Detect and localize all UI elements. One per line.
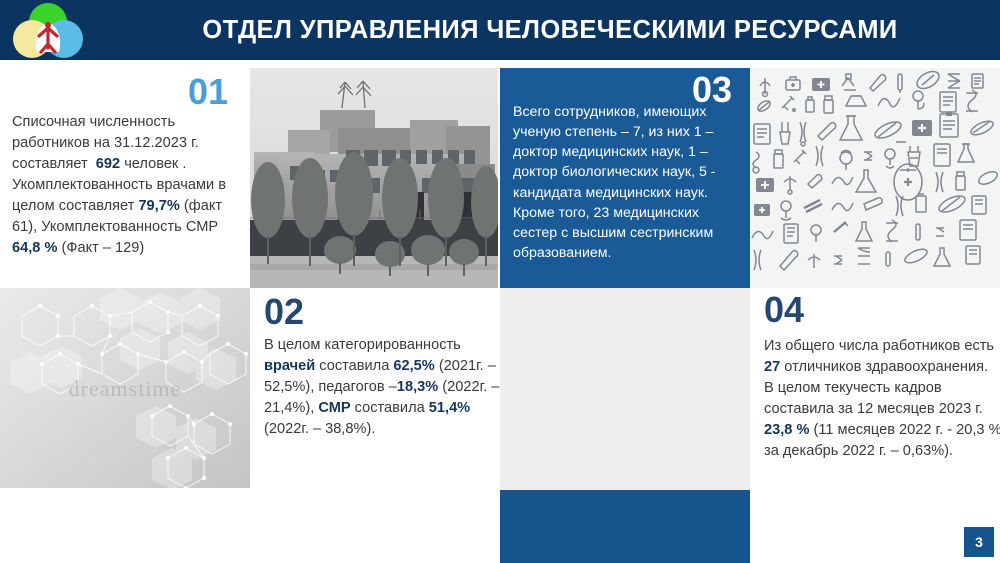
block-01-line: Списочная численность работников на 31.1… bbox=[12, 114, 226, 256]
block-04: 04 Из общего числа работников есть 27 от… bbox=[750, 288, 1000, 503]
block-01: 01 Списочная численность работников на 3… bbox=[0, 70, 250, 288]
grey-filler-column bbox=[500, 288, 750, 490]
block-03: 03 Всего сотрудников, имеющих ученую сте… bbox=[500, 68, 750, 288]
slide-root: ОТДЕЛ УПРАВЛЕНИЯ ЧЕЛОВЕЧЕСКИМИ РЕСУРСАМИ bbox=[0, 0, 1000, 563]
medical-icons-pattern bbox=[750, 68, 1000, 288]
block-02-line: В целом категорированность врачей состав… bbox=[264, 337, 499, 437]
three-circles-logo bbox=[4, 2, 92, 60]
block-01-number: 01 bbox=[188, 74, 228, 110]
block-01-text: Списочная численность работников на 31.1… bbox=[12, 112, 240, 259]
logo-figure-head bbox=[45, 22, 51, 28]
blue-bottom-block bbox=[500, 490, 750, 563]
block-04-line: Из общего числа работников есть 27 отлич… bbox=[764, 338, 1000, 459]
block-03-left-border bbox=[498, 68, 500, 288]
block-04-number: 04 bbox=[764, 292, 804, 328]
hexagon-pattern-image: dreamstime bbox=[0, 288, 250, 488]
block-02-text: В целом категорированность врачей состав… bbox=[264, 335, 500, 440]
block-02: 02 В целом категорированность врачей сос… bbox=[250, 290, 500, 490]
block-03-text: Всего сотрудников, имеющих ученую степен… bbox=[513, 102, 741, 263]
page-title: ОТДЕЛ УПРАВЛЕНИЯ ЧЕЛОВЕЧЕСКИМИ РЕСУРСАМИ bbox=[140, 0, 960, 60]
hospital-building-photo bbox=[250, 68, 498, 288]
block-04-text: Из общего числа работников есть 27 отлич… bbox=[764, 336, 1000, 462]
page-number-badge: 3 bbox=[964, 527, 994, 557]
block-02-number: 02 bbox=[264, 294, 304, 330]
